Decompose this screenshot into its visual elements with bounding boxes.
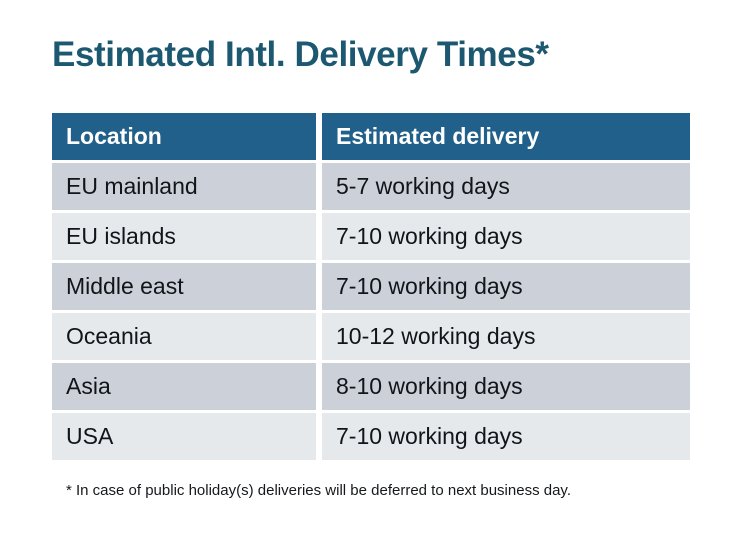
- column-header-location: Location: [52, 113, 316, 160]
- delivery-times-table: Location Estimated delivery EU mainland …: [52, 113, 690, 460]
- table-row: Asia 8-10 working days: [52, 363, 690, 410]
- cell-location: Middle east: [52, 263, 316, 310]
- cell-estimated-delivery: 5-7 working days: [322, 163, 690, 210]
- page-title: Estimated Intl. Delivery Times*: [52, 36, 549, 75]
- cell-estimated-delivery: 10-12 working days: [322, 313, 690, 360]
- cell-estimated-delivery: 8-10 working days: [322, 363, 690, 410]
- cell-location: USA: [52, 413, 316, 460]
- footnote-text: * In case of public holiday(s) deliverie…: [66, 481, 571, 501]
- cell-location: EU islands: [52, 213, 316, 260]
- table-row: Middle east 7-10 working days: [52, 263, 690, 310]
- cell-location: Oceania: [52, 313, 316, 360]
- delivery-times-page: Estimated Intl. Delivery Times* Location…: [0, 0, 745, 536]
- table-row: Oceania 10-12 working days: [52, 313, 690, 360]
- cell-estimated-delivery: 7-10 working days: [322, 413, 690, 460]
- table-row: EU mainland 5-7 working days: [52, 163, 690, 210]
- table-header-row: Location Estimated delivery: [52, 113, 690, 160]
- cell-estimated-delivery: 7-10 working days: [322, 263, 690, 310]
- cell-location: EU mainland: [52, 163, 316, 210]
- table-row: EU islands 7-10 working days: [52, 213, 690, 260]
- column-header-estimated-delivery: Estimated delivery: [322, 113, 690, 160]
- table-row: USA 7-10 working days: [52, 413, 690, 460]
- cell-estimated-delivery: 7-10 working days: [322, 213, 690, 260]
- cell-location: Asia: [52, 363, 316, 410]
